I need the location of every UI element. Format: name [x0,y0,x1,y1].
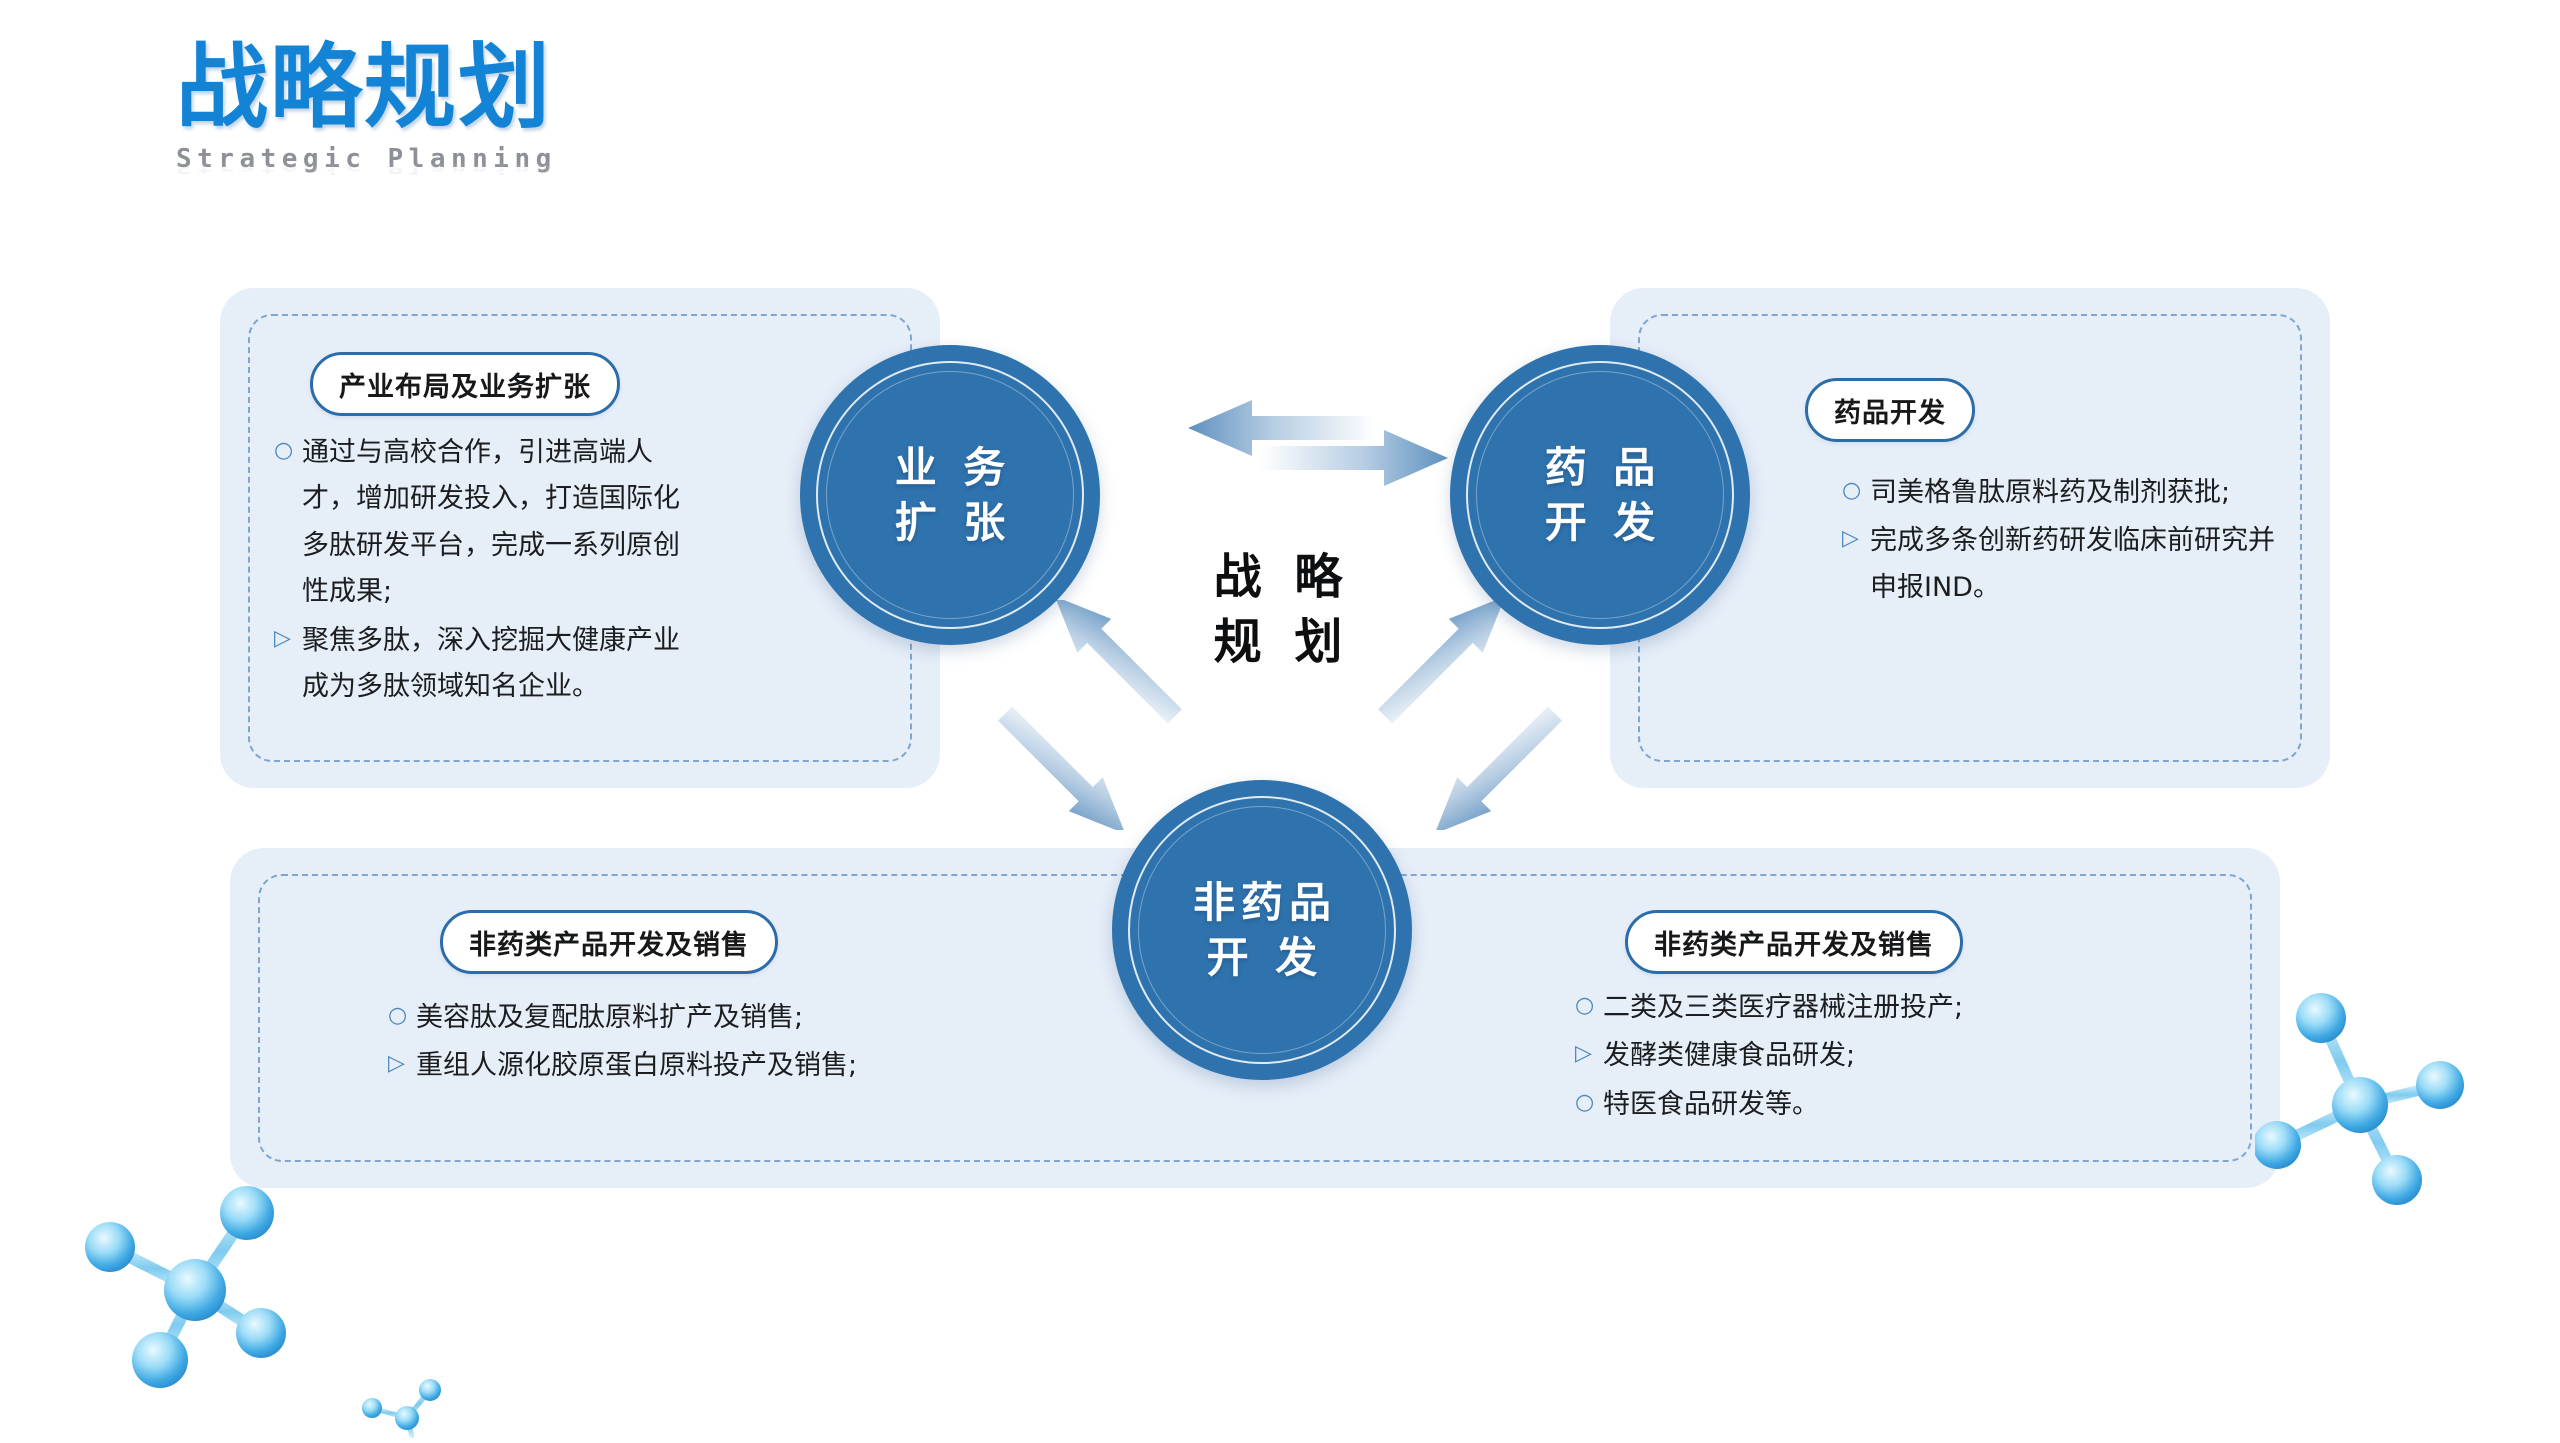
page-header: 战略规划 Strategic Planning Strategic Planni… [176,42,557,206]
panel-title-bottom-right[interactable]: 非药类产品开发及销售 [1625,910,1963,974]
molecule-icon [65,1185,355,1435]
slide-canvas: 战略规划 Strategic Planning Strategic Planni… [0,0,2560,1440]
node-label: 药 品 开 发 [1539,440,1662,551]
list-item-text: 重组人源化胶原蛋白原料投产及销售; [416,1043,988,1089]
node-label-line1: 业 务 [889,440,1012,495]
list-item: ○ 司美格鲁肽原料药及制剂获批; [1842,470,2282,516]
list-item-text: 通过与高校合作，引进高端人才，增加研发投入，打造国际化多肽研发平台，完成一系列原… [302,430,704,616]
center-label: 战 略 规 划 [1178,545,1378,675]
page-subtitle-reflection: Strategic Planning [176,160,557,177]
molecule-decoration-right [2255,985,2555,1230]
list-item: ○ 通过与高校合作，引进高端人才，增加研发投入，打造国际化多肽研发平台，完成一系… [274,430,704,616]
molecule-decoration-small [352,1372,462,1438]
molecule-icon [352,1372,462,1438]
node-drug-development[interactable]: 药 品 开 发 [1450,345,1750,645]
list-item: ○ 特医食品研发等。 [1575,1082,2135,1128]
node-non-drug-development[interactable]: 非药品 开 发 [1112,780,1412,1080]
center-label-line2: 规 划 [1178,610,1378,675]
node-label-line1: 药 品 [1539,440,1662,495]
bullet-triangle-icon: ▷ [388,1043,416,1085]
node-label: 非药品 开 发 [1187,875,1337,986]
node-business-expansion[interactable]: 业 务 扩 张 [800,345,1100,645]
list-item: ▷ 发酵类健康食品研发; [1575,1033,2135,1079]
bullet-triangle-icon: ▷ [1575,1033,1603,1075]
page-title: 战略规划 [176,42,557,134]
bullet-circle-icon: ○ [1842,470,1870,512]
node-label-line1: 非药品 [1187,875,1337,930]
node-label: 业 务 扩 张 [889,440,1012,551]
list-item-text: 特医食品研发等。 [1603,1082,2135,1128]
double-arrow-horizontal [1180,390,1460,520]
double-arrow-horizontal-icon [1180,390,1460,520]
double-arrow-diagonal-left [975,600,1205,830]
bullet-triangle-icon: ▷ [274,618,302,660]
list-item: ○ 美容肽及复配肽原料扩产及销售; [388,995,988,1041]
node-label-line2: 扩 张 [889,495,1012,550]
list-item: ○ 二类及三类医疗器械注册投产; [1575,985,2135,1031]
list-item-text: 完成多条创新药研发临床前研究并申报IND。 [1870,518,2282,611]
list-item-text: 二类及三类医疗器械注册投产; [1603,985,2135,1031]
list-item-text: 发酵类健康食品研发; [1603,1033,2135,1079]
bullet-triangle-icon: ▷ [1842,518,1870,560]
bullet-list-bottom-left: ○ 美容肽及复配肽原料扩产及销售; ▷ 重组人源化胶原蛋白原料投产及销售; [388,995,988,1092]
bullet-list-top-right: ○ 司美格鲁肽原料药及制剂获批; ▷ 完成多条创新药研发临床前研究并申报IND。 [1842,470,2282,613]
bullet-circle-icon: ○ [1575,1082,1603,1124]
bullet-list-bottom-right: ○ 二类及三类医疗器械注册投产; ▷ 发酵类健康食品研发; ○ 特医食品研发等。 [1575,985,2135,1130]
list-item-text: 聚焦多肽，深入挖掘大健康产业成为多肽领域知名企业。 [302,618,704,711]
panel-title-top-left[interactable]: 产业布局及业务扩张 [310,352,620,416]
bullet-circle-icon: ○ [274,430,302,472]
list-item: ▷ 完成多条创新药研发临床前研究并申报IND。 [1842,518,2282,611]
bullet-list-top-left: ○ 通过与高校合作，引进高端人才，增加研发投入，打造国际化多肽研发平台，完成一系… [274,430,704,713]
molecule-icon [2255,985,2555,1230]
node-label-line2: 开 发 [1187,930,1337,985]
double-arrow-diagonal-left-icon [975,600,1205,830]
list-item: ▷ 重组人源化胶原蛋白原料投产及销售; [388,1043,988,1089]
bullet-circle-icon: ○ [1575,985,1603,1027]
list-item-text: 美容肽及复配肽原料扩产及销售; [416,995,988,1041]
molecule-decoration-bottom-left [65,1185,355,1435]
center-label-line1: 战 略 [1178,545,1378,610]
bullet-circle-icon: ○ [388,995,416,1037]
node-label-line2: 开 发 [1539,495,1662,550]
list-item: ▷ 聚焦多肽，深入挖掘大健康产业成为多肽领域知名企业。 [274,618,704,711]
panel-title-top-right[interactable]: 药品开发 [1805,378,1975,442]
panel-title-bottom-left[interactable]: 非药类产品开发及销售 [440,910,778,974]
list-item-text: 司美格鲁肽原料药及制剂获批; [1870,470,2282,516]
